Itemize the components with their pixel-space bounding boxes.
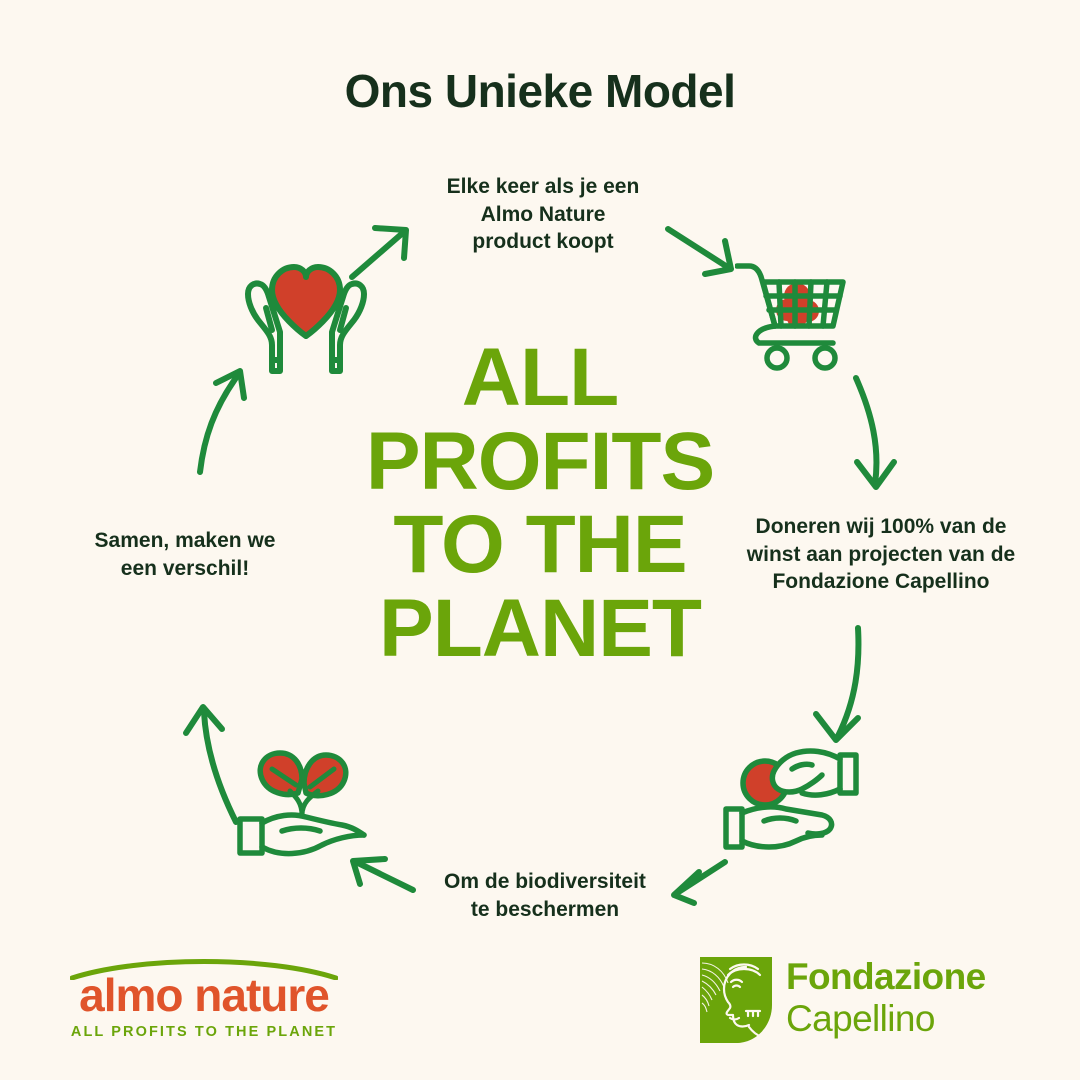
center-slogan: ALL PROFITS TO THE PLANET [340, 336, 740, 671]
arrow-cart-to-right-label [856, 378, 894, 487]
fondazione-line1: Fondazione [786, 957, 986, 997]
arrow-plant-to-left-label [186, 707, 236, 822]
hand-giving-coin-icon [718, 735, 863, 855]
shopping-cart-icon [735, 248, 860, 373]
fondazione-line2: Capellino [786, 999, 935, 1039]
hands-holding-heart-icon [236, 250, 376, 380]
woman-profile-icon [700, 957, 772, 1043]
arrow-left-label-to-heart [200, 371, 244, 472]
cycle-label-donate: Doneren wij 100% van de winst aan projec… [716, 513, 1046, 596]
almo-nature-tagline: ALL PROFITS TO THE PLANET [68, 1024, 340, 1040]
almo-nature-logo: almo nature ALL PROFITS TO THE PLANET [68, 958, 340, 1050]
page-title: Ons Unieke Model [0, 64, 1080, 118]
arrow-right-label-to-coin [816, 628, 858, 740]
cycle-label-purchase: Elke keer als je een Almo Nature product… [378, 173, 708, 256]
infographic-canvas: Ons Unieke Model ALL PROFITS TO THE PLAN… [0, 0, 1080, 1080]
almo-nature-wordmark: almo nature [68, 972, 340, 1018]
cycle-label-together: Samen, maken we een verschil! [30, 527, 340, 582]
hand-holding-plant-icon [232, 735, 377, 860]
cycle-label-biodiversity: Om de biodiversiteit te beschermen [380, 868, 710, 923]
fondazione-capellino-logo: Fondazione Capellino [700, 955, 1020, 1047]
